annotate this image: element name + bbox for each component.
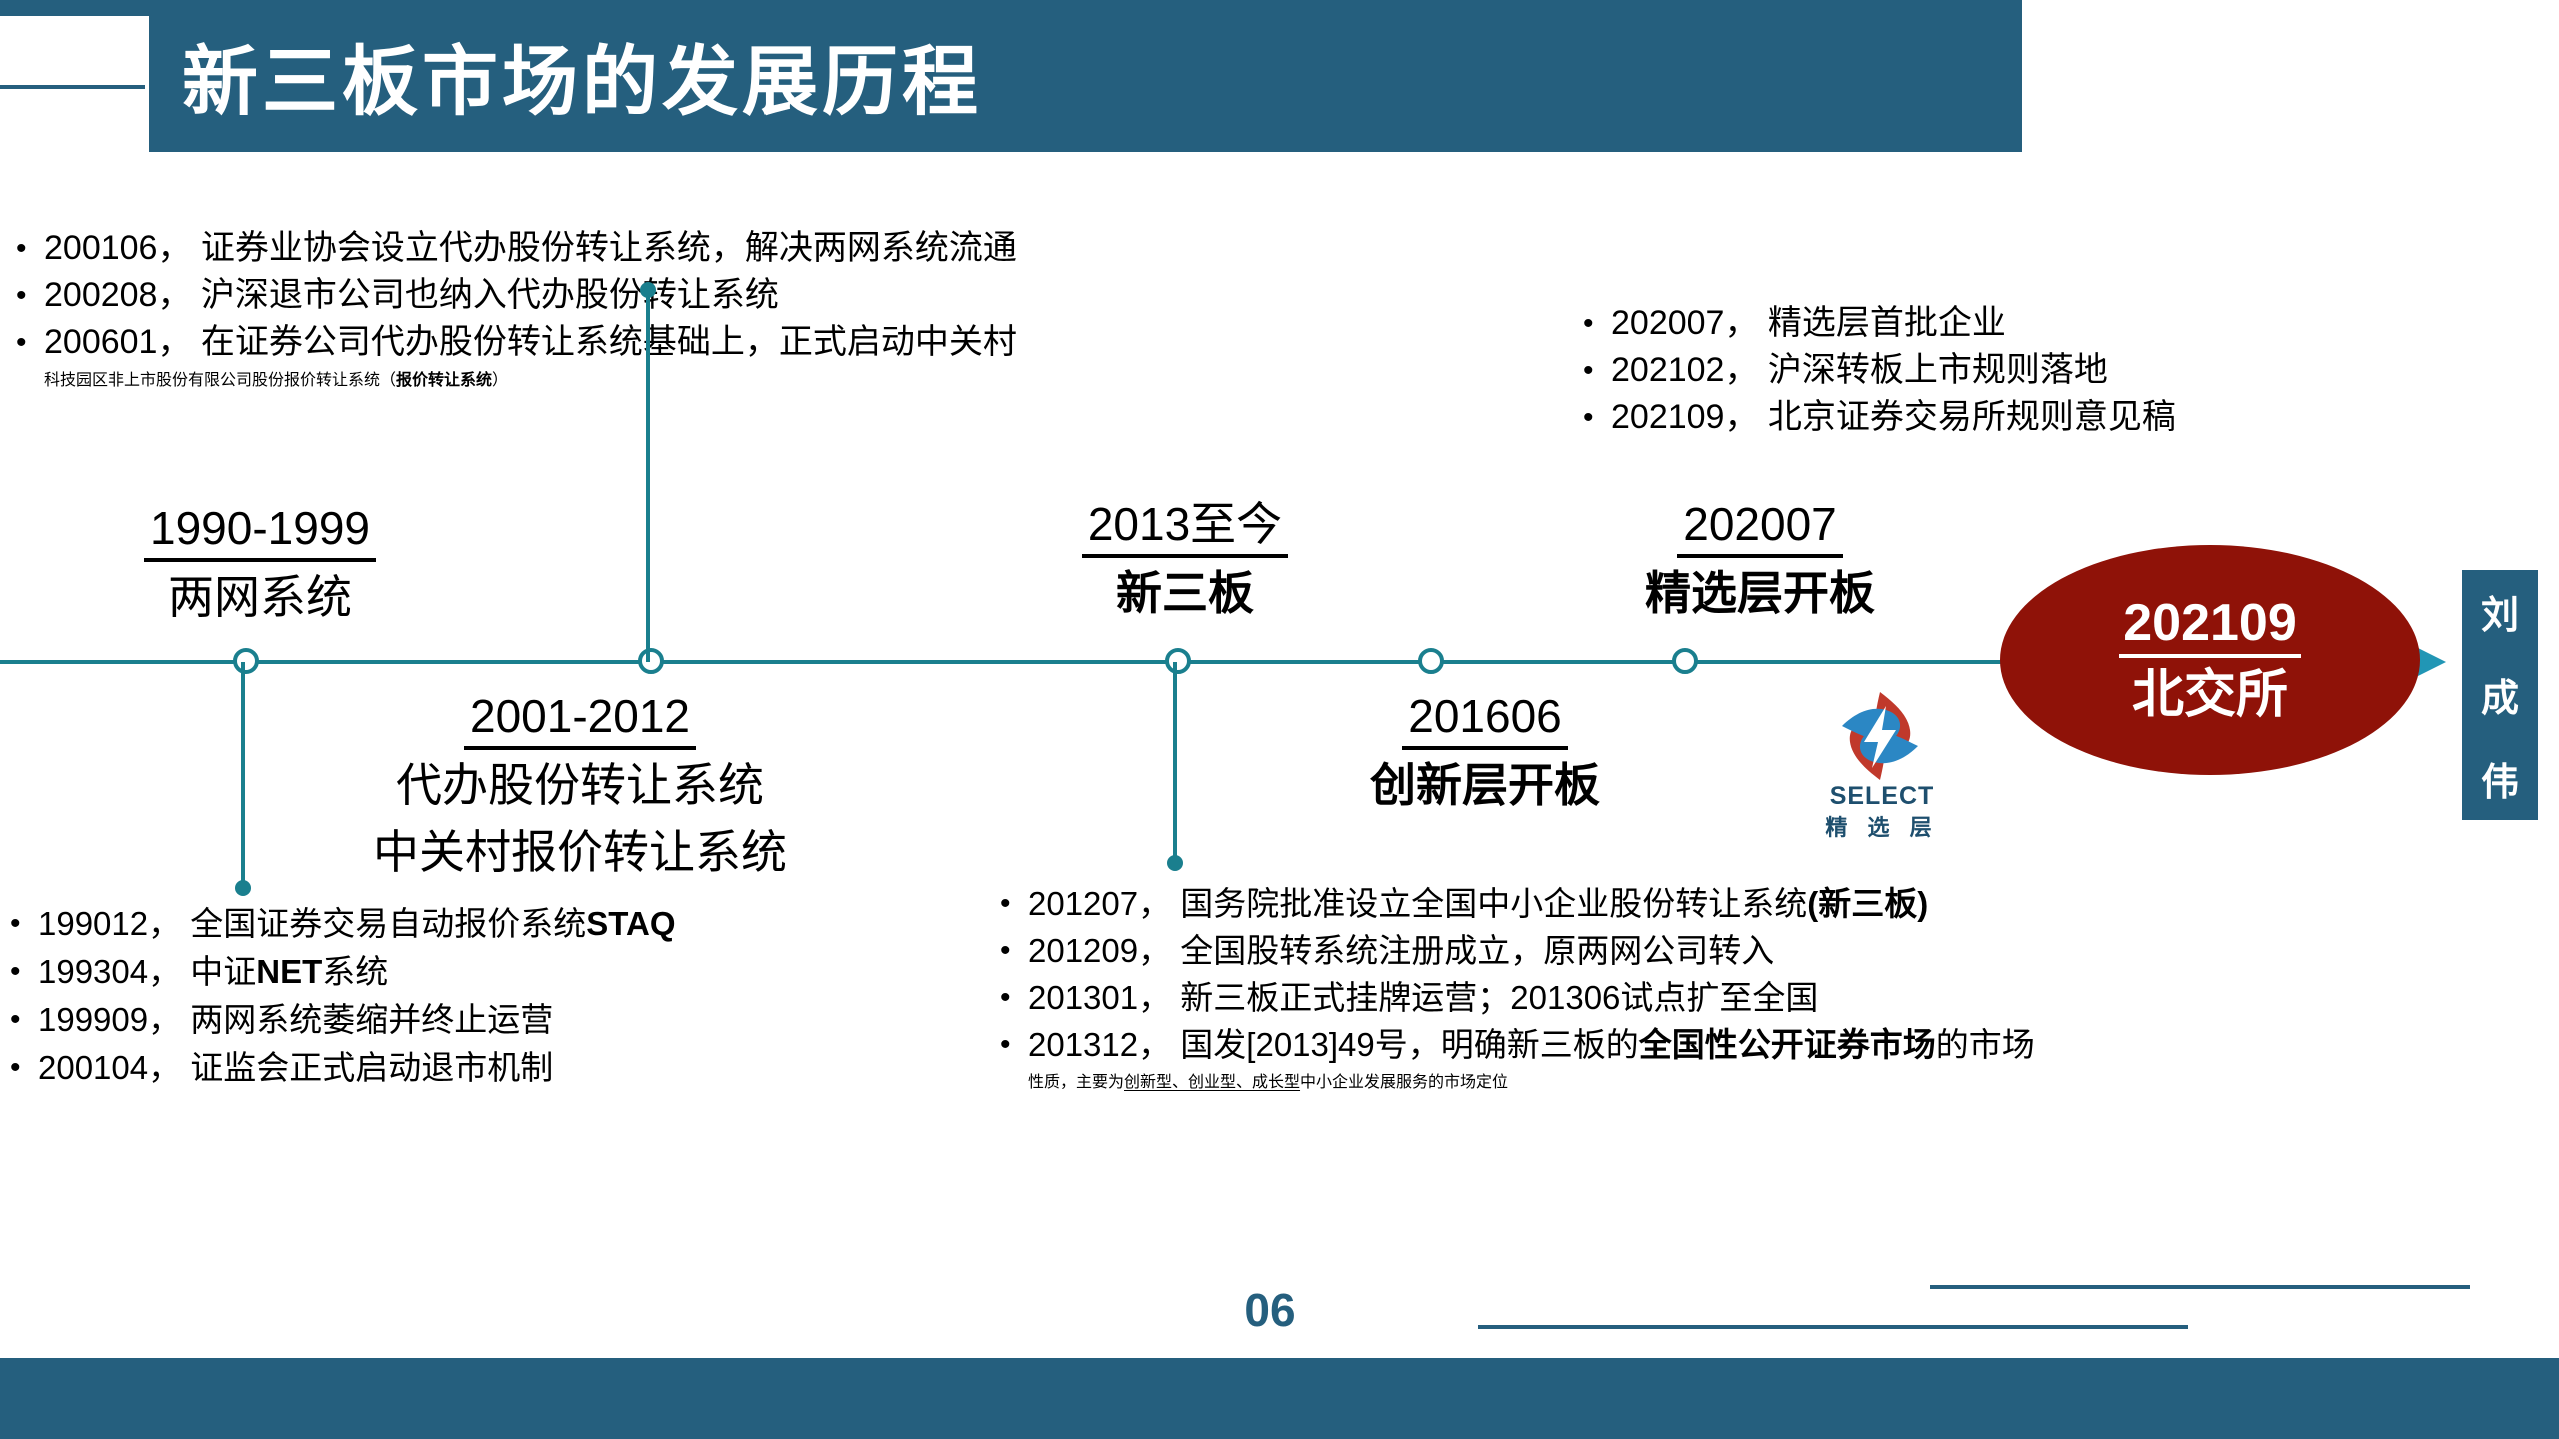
list-item-text: 202109， 北京证券交易所规则意见稿 — [1611, 394, 2176, 441]
list-item: • 199304， 中证NET系统 — [10, 948, 990, 996]
list-item: • 200104， 证监会正式启动退市机制 — [10, 1044, 990, 1092]
bullet-icon: • — [10, 900, 38, 947]
bullet-icon: • — [1583, 300, 1611, 347]
timeline-highlight-202109[interactable]: 202109 北交所 — [2000, 545, 2420, 775]
list-item-text: 199304， 中证NET系统 — [38, 948, 388, 996]
bullet-list-bottom-right: • 201207， 国务院批准设立全国中小企业股份转让系统(新三板) • 201… — [1000, 880, 2550, 1092]
list-item: • 200106， 证券业协会设立代办股份转让系统，解决两网系统流通 — [16, 225, 1436, 272]
bullet-icon: • — [1000, 1021, 1028, 1068]
bullet-icon: • — [1583, 347, 1611, 394]
timeline-arrow-icon — [2418, 648, 2446, 676]
timeline-year: 201606 — [1402, 686, 1568, 750]
bullet-icon: • — [1000, 974, 1028, 1021]
footer-rule-lower — [1478, 1325, 2188, 1329]
list-item-text: 200106， 证券业协会设立代办股份转让系统，解决两网系统流通 — [44, 225, 1017, 272]
bullet-icon: • — [16, 272, 44, 319]
page-number: 06 — [1200, 1283, 1340, 1337]
bullet-icon: • — [10, 1044, 38, 1091]
list-item-text: 200104， 证监会正式启动退市机制 — [38, 1044, 553, 1092]
timeline-node-2013[interactable] — [1165, 648, 1191, 674]
bullet-list-top-left: • 200106， 证券业协会设立代办股份转让系统，解决两网系统流通 • 200… — [16, 225, 1436, 390]
bullet-icon: • — [16, 319, 44, 366]
page-title: 新三板市场的发展历程 — [182, 24, 982, 142]
timeline-label-2016: 201606 创新层开板 — [1290, 686, 1680, 816]
list-item-text: 200208， 沪深退市公司也纳入代办股份转让系统 — [44, 272, 779, 319]
list-item: • 202102， 沪深转板上市规则落地 — [1583, 347, 2503, 394]
list-item: • 200208， 沪深退市公司也纳入代办股份转让系统 — [16, 272, 1436, 319]
stem-dot-1990 — [235, 880, 251, 896]
header-top-band — [0, 0, 2022, 16]
timeline-node-2001[interactable] — [638, 648, 664, 674]
list-item-continuation: 性质，主要为创新型、创业型、成长型中小企业发展服务的市场定位 — [1000, 1068, 2550, 1092]
list-item: • 199909， 两网系统萎缩并终止运营 — [10, 996, 990, 1044]
header-left-rule — [0, 85, 150, 89]
slide: 新三板市场的发展历程 • 200106， 证券业协会设立代办股份转让系统，解决两… — [0, 0, 2559, 1439]
bullet-icon: • — [1000, 927, 1028, 974]
timeline-year: 1990-1999 — [144, 498, 376, 562]
list-item: • 201209， 全国股转系统注册成立，原两网公司转入 — [1000, 927, 2550, 974]
list-item-text: 199909， 两网系统萎缩并终止运营 — [38, 996, 553, 1044]
list-item-text: 201209， 全国股转系统注册成立，原两网公司转入 — [1028, 927, 1774, 974]
author-char: 成 — [2481, 667, 2519, 722]
bullet-list-top-right: • 202007， 精选层首批企业 • 202102， 沪深转板上市规则落地 •… — [1583, 300, 2503, 441]
bullet-icon: • — [10, 996, 38, 1043]
highlight-year: 202109 — [2119, 592, 2301, 658]
stem-1990-down — [241, 662, 245, 892]
stem-2001-up — [646, 288, 650, 662]
footer-band — [0, 1358, 2559, 1439]
timeline-name: 创新层开板 — [1290, 754, 1680, 816]
timeline-label-2013: 2013至今 新三板 — [1010, 494, 1360, 624]
author-char: 伟 — [2481, 751, 2519, 806]
logo-label-en: SELECT — [1812, 782, 1952, 811]
stem-dot-2013 — [1167, 855, 1183, 871]
timeline-label-2001: 2001-2012 代办股份转让系统 中关村报价转让系统 — [300, 686, 860, 884]
bullet-icon: • — [1583, 394, 1611, 441]
footer-rule-upper — [1930, 1285, 2470, 1289]
timeline-node-2020[interactable] — [1672, 648, 1698, 674]
author-char: 刘 — [2481, 584, 2519, 639]
list-item-text: 202102， 沪深转板上市规则落地 — [1611, 347, 2108, 394]
list-item-continuation: 科技园区非上市股份有限公司股份报价转让系统（报价转让系统） — [16, 366, 1436, 390]
bullet-icon: • — [1000, 880, 1028, 927]
highlight-name: 北交所 — [2132, 662, 2288, 728]
list-item-text: 200601， 在证券公司代办股份转让系统基础上，正式启动中关村 — [44, 319, 1017, 366]
list-item: • 202109， 北京证券交易所规则意见稿 — [1583, 394, 2503, 441]
list-item: • 200601， 在证券公司代办股份转让系统基础上，正式启动中关村 — [16, 319, 1436, 366]
timeline-name: 两网系统 — [50, 566, 470, 628]
select-layer-logo: SELECT 精 选 层 — [1812, 690, 1952, 840]
list-item: • 201301， 新三板正式挂牌运营；201306试点扩至全国 — [1000, 974, 2550, 1021]
list-item-text: 199012， 全国证券交易自动报价系统STAQ — [38, 900, 676, 948]
stem-dot-2001 — [640, 282, 656, 298]
bullet-icon: • — [16, 225, 44, 272]
timeline-node-2016[interactable] — [1418, 648, 1444, 674]
author-name-badge: 刘 成 伟 — [2462, 570, 2538, 820]
list-item-text: 201312， 国发[2013]49号，明确新三板的全国性公开证券市场的市场 — [1028, 1021, 2035, 1068]
timeline-year: 2001-2012 — [464, 686, 696, 750]
list-item-text: 201207， 国务院批准设立全国中小企业股份转让系统(新三板) — [1028, 880, 1928, 927]
list-item-text: 202007， 精选层首批企业 — [1611, 300, 2006, 347]
timeline-name: 精选层开板 — [1550, 562, 1970, 624]
timeline-label-1990: 1990-1999 两网系统 — [50, 498, 470, 628]
list-item: • 201207， 国务院批准设立全国中小企业股份转让系统(新三板) — [1000, 880, 2550, 927]
timeline-node-1990[interactable] — [233, 648, 259, 674]
timeline-year: 202007 — [1677, 494, 1843, 558]
timeline-name: 新三板 — [1010, 562, 1360, 624]
timeline-year: 2013至今 — [1082, 494, 1288, 558]
timeline-name-secondary: 中关村报价转让系统 — [300, 821, 860, 884]
stem-2013-down — [1173, 662, 1177, 862]
timeline-label-2020: 202007 精选层开板 — [1550, 494, 1970, 624]
list-item: • 199012， 全国证券交易自动报价系统STAQ — [10, 900, 990, 948]
list-item: • 201312， 国发[2013]49号，明确新三板的全国性公开证券市场的市场 — [1000, 1021, 2550, 1068]
lightning-bolt-icon — [1830, 690, 1930, 782]
bullet-icon: • — [10, 948, 38, 995]
logo-label-cn: 精 选 层 — [1812, 810, 1952, 842]
timeline-name: 代办股份转让系统 — [300, 754, 860, 817]
bullet-list-bottom-left: • 199012， 全国证券交易自动报价系统STAQ • 199304， 中证N… — [10, 900, 990, 1092]
list-item: • 202007， 精选层首批企业 — [1583, 300, 2503, 347]
list-item-text: 201301， 新三板正式挂牌运营；201306试点扩至全国 — [1028, 974, 1818, 1021]
